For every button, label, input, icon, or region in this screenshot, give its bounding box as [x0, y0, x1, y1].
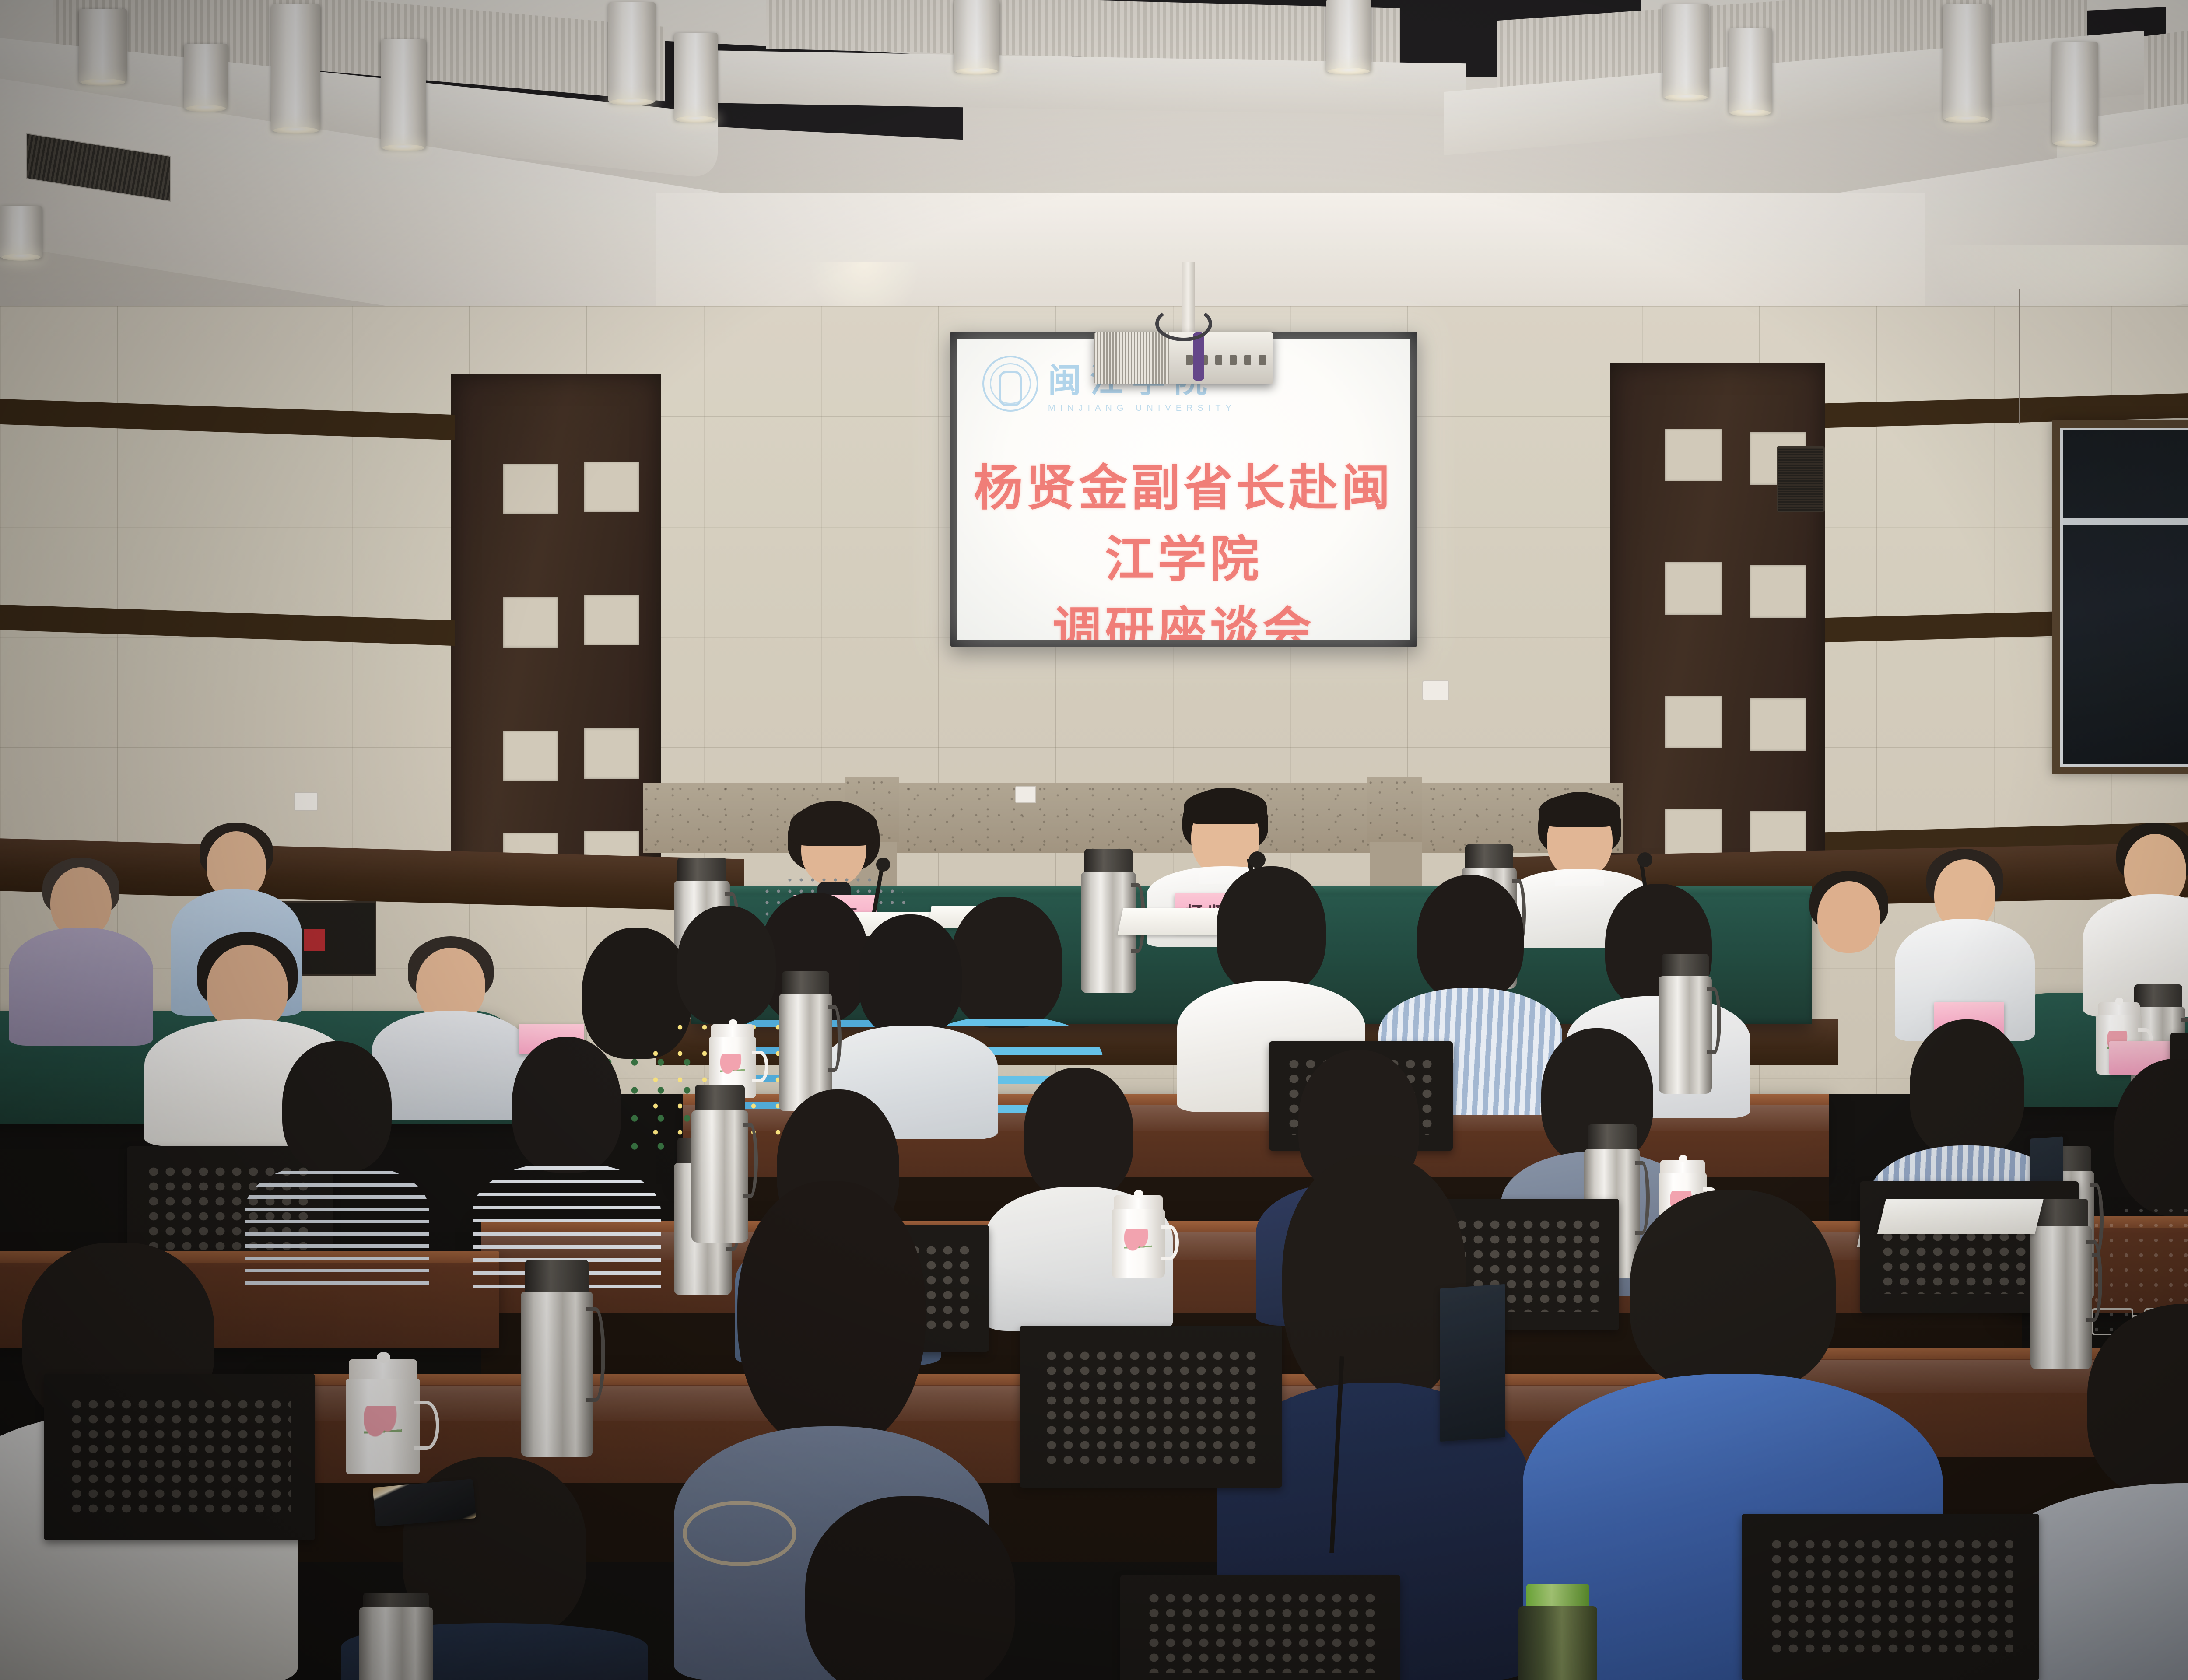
thermos-flask: [691, 1085, 748, 1242]
projector-cable-loop: [1155, 306, 1212, 341]
ceiling-downlight: [1663, 4, 1709, 98]
chair-back: [1742, 1514, 2039, 1680]
slide-title-line-1: 杨贤金副省长赴闽江学院: [957, 453, 1410, 595]
ceiling-downlight: [0, 206, 42, 258]
wall-outlet: [1422, 680, 1449, 700]
window-transom-bar: [2063, 518, 2188, 525]
tea-mug: [1112, 1190, 1165, 1277]
thermos-flask: [359, 1592, 433, 1680]
slide-title: 杨贤金副省长赴闽江学院 调研座谈会: [957, 453, 1410, 640]
window-glass: [2060, 428, 2188, 766]
ceiling-downlight: [608, 2, 656, 103]
attendee: [9, 857, 153, 1041]
ceiling-downlight: [381, 39, 426, 149]
ceiling-downlight: [1326, 0, 1371, 72]
attendee: [473, 1037, 661, 1291]
wall-outlet: [294, 792, 318, 811]
window: [2052, 420, 2188, 774]
ceiling-downlight: [1729, 28, 1772, 114]
printed-document: [1877, 1199, 2044, 1234]
granite-wall-band-stub-right: [1367, 777, 1422, 842]
ceiling: [0, 0, 2188, 332]
chair-back: [1120, 1575, 1400, 1680]
ceiling-downlight: [271, 4, 320, 131]
logo-english-name: MINJIANG UNIVERSITY: [1048, 403, 1236, 413]
wall-outlet: [1015, 786, 1036, 803]
attendee: [2083, 822, 2188, 1011]
university-emblem-icon: [982, 356, 1038, 412]
ceiling-downlight: [2052, 42, 2098, 144]
ceiling-downlight: [954, 0, 999, 72]
thermos-flask: [521, 1260, 593, 1457]
thermos-flask: [2030, 1199, 2092, 1369]
slide-title-line-2: 调研座谈会: [957, 595, 1410, 640]
ceiling-downlight: [184, 44, 228, 109]
ceiling-downlight: [79, 9, 127, 83]
mic-cable: [683, 1501, 796, 1566]
document-folder: [1440, 1284, 1505, 1442]
chair-back: [1020, 1326, 1282, 1487]
chair-back: [44, 1374, 315, 1540]
ceiling-downlight: [674, 33, 718, 120]
water-bottle: [1518, 1584, 1597, 1680]
wall-speaker: [1777, 446, 1825, 512]
projector-vent-grille: [1094, 332, 1169, 384]
wall-wood-panel-left: [451, 374, 661, 882]
ceiling-downlight: [1943, 4, 1991, 120]
ceiling-wire: [2019, 289, 2020, 424]
tea-mug: [346, 1352, 420, 1474]
conference-room-photo: 闽江学院 MINJIANG UNIVERSITY 杨贤金副省长赴闽江学院 调研座…: [0, 0, 2188, 1680]
